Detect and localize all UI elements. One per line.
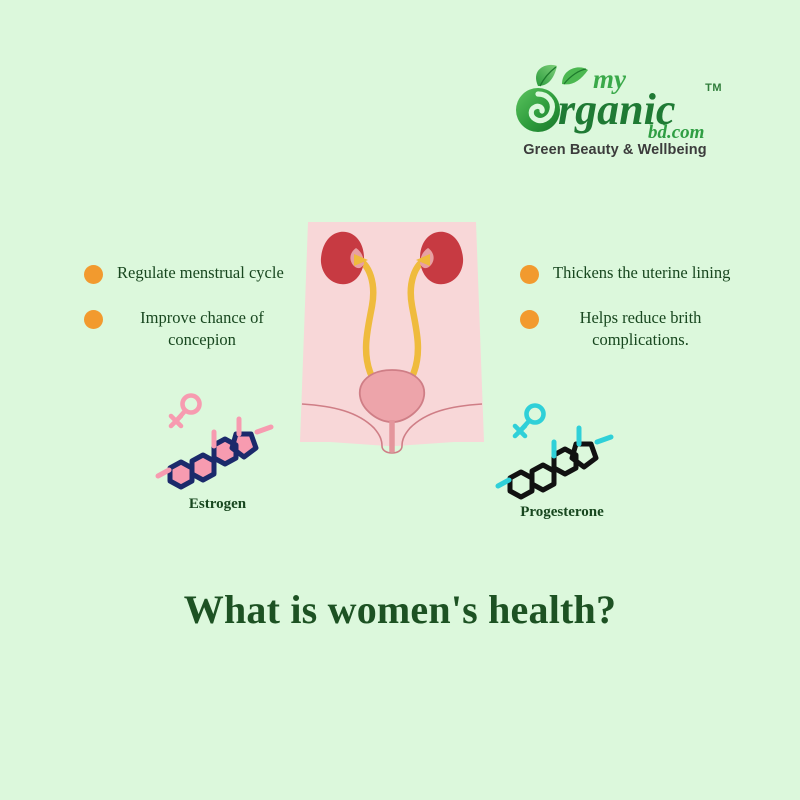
female-symbol-icon bbox=[171, 396, 200, 427]
leaf-icon bbox=[536, 65, 588, 86]
list-item: Improve chance of concepion bbox=[84, 307, 329, 351]
list-item: Thickens the uterine lining bbox=[520, 262, 770, 284]
list-item: Helps reduce brith complications. bbox=[520, 307, 770, 351]
progesterone-molecule-block: Progesterone bbox=[492, 402, 632, 532]
logo-wordmark: my rganic bd.com bbox=[500, 62, 730, 140]
benefits-list-left: Regulate menstrual cycle Improve chance … bbox=[84, 262, 329, 374]
list-item-label: Thickens the uterine lining bbox=[553, 262, 730, 284]
bullet-dot-icon bbox=[84, 310, 103, 329]
estrogen-molecule-block: Estrogen bbox=[150, 392, 285, 522]
list-item-label: Improve chance of concepion bbox=[117, 307, 287, 351]
logo-domain-text: bd.com bbox=[648, 122, 704, 140]
progesterone-label: Progesterone bbox=[492, 504, 632, 521]
logo-tagline: Green Beauty & Wellbeing bbox=[500, 142, 730, 158]
bullet-dot-icon bbox=[84, 265, 103, 284]
list-item-label: Regulate menstrual cycle bbox=[117, 262, 284, 284]
list-item-label: Helps reduce brith complications. bbox=[553, 307, 728, 351]
estrogen-structure bbox=[150, 392, 285, 497]
brand-logo: my rganic bd.com TM Green Beauty & Wellb… bbox=[500, 62, 730, 167]
female-urinary-system-diagram bbox=[296, 214, 488, 454]
progesterone-structure bbox=[492, 402, 632, 507]
list-item: Regulate menstrual cycle bbox=[84, 262, 329, 284]
benefits-list-right: Thickens the uterine lining Helps reduce… bbox=[520, 262, 770, 374]
female-symbol-icon bbox=[515, 406, 544, 437]
bullet-dot-icon bbox=[520, 265, 539, 284]
bullet-dot-icon bbox=[520, 310, 539, 329]
infographic-canvas: my rganic bd.com TM Green Beauty & Wellb… bbox=[0, 0, 800, 800]
page-title: What is women's health? bbox=[0, 586, 800, 633]
trademark-symbol: TM bbox=[705, 82, 722, 94]
estrogen-label: Estrogen bbox=[150, 496, 285, 513]
logo-o-mark bbox=[516, 88, 560, 132]
